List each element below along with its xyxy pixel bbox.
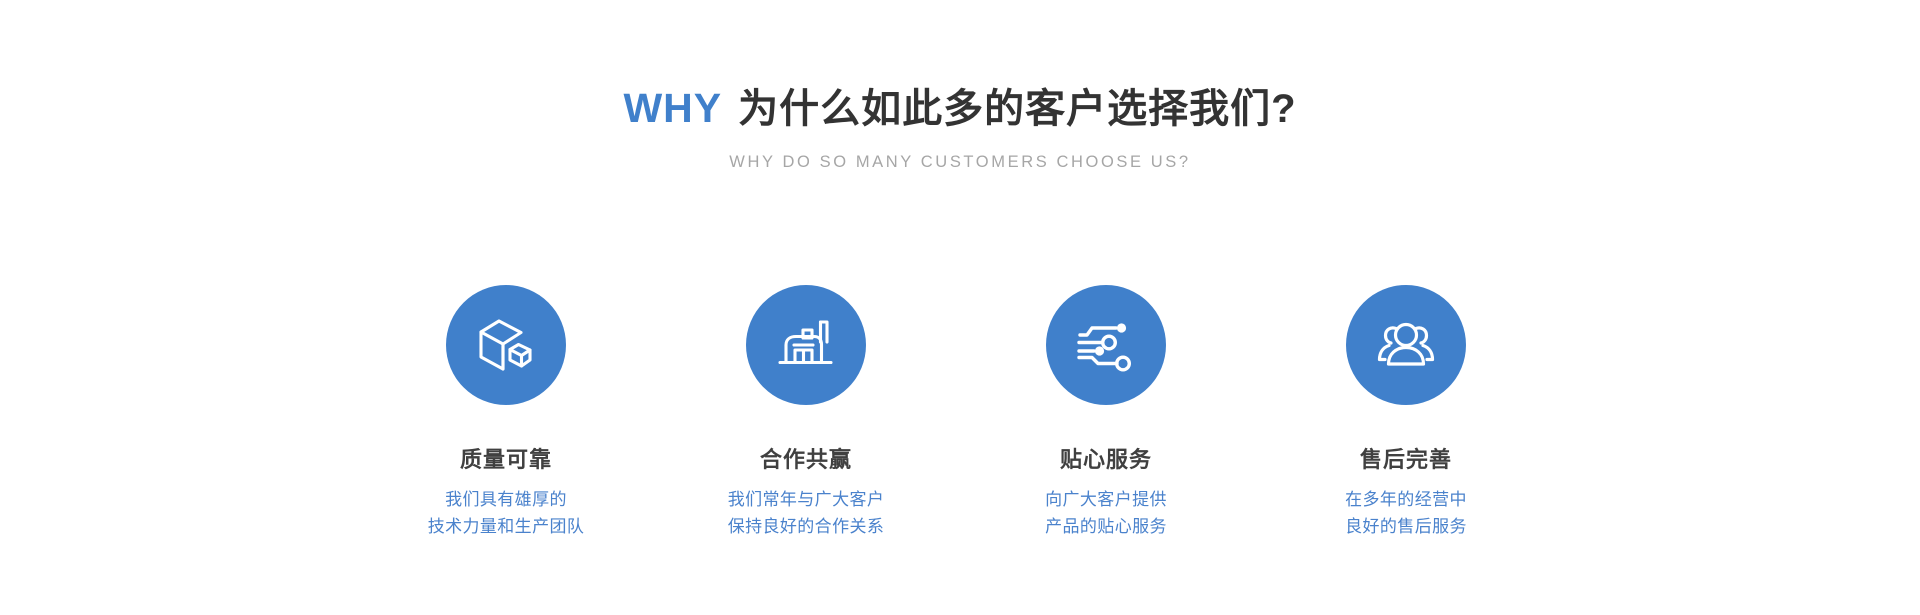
feature-item-quality[interactable]: 质量可靠 我们具有雄厚的 技术力量和生产团队 [406,285,606,540]
icon-circle-service [1046,285,1166,405]
title-prefix-why: WHY [623,85,722,131]
section-subtitle: WHY DO SO MANY CUSTOMERS CHOOSE US? [0,153,1920,172]
feature-title: 售后完善 [1360,448,1452,472]
feature-description: 我们常年与广大客户 保持良好的合作关系 [728,487,885,540]
factory-icon [773,312,839,378]
box-package-icon [473,312,539,378]
feature-desc-line-2: 保持良好的合作关系 [728,514,885,540]
feature-list: 质量可靠 我们具有雄厚的 技术力量和生产团队 [406,285,1506,540]
feature-item-cooperation[interactable]: 合作共赢 我们常年与广大客户 保持良好的合作关系 [706,285,906,540]
title-chinese: 为什么如此多的客户选择我们? [738,87,1296,131]
feature-desc-line-2: 良好的售后服务 [1345,514,1467,540]
feature-desc-line-1: 在多年的经营中 [1345,487,1467,513]
feature-desc-line-1: 我们具有雄厚的 [428,487,585,513]
page-title: WHY为什么如此多的客户选择我们? [0,84,1920,133]
feature-description: 我们具有雄厚的 技术力量和生产团队 [428,487,585,540]
feature-item-service[interactable]: 贴心服务 向广大客户提供 产品的贴心服务 [1006,285,1206,540]
feature-desc-line-1: 我们常年与广大客户 [728,487,885,513]
feature-title: 贴心服务 [1060,448,1152,472]
feature-desc-line-2: 技术力量和生产团队 [428,514,585,540]
why-choose-us-section: WHY为什么如此多的客户选择我们? WHY DO SO MANY CUSTOME… [0,0,1920,615]
feature-title: 质量可靠 [460,448,552,472]
icon-circle-quality [446,285,566,405]
circuit-network-icon [1073,312,1139,378]
feature-title: 合作共赢 [760,448,852,472]
feature-item-aftersales[interactable]: 售后完善 在多年的经营中 良好的售后服务 [1306,285,1506,540]
icon-circle-aftersales [1346,285,1466,405]
icon-circle-cooperation [746,285,866,405]
feature-description: 向广大客户提供 产品的贴心服务 [1045,487,1167,540]
feature-description: 在多年的经营中 良好的售后服务 [1345,487,1467,540]
section-heading: WHY为什么如此多的客户选择我们? WHY DO SO MANY CUSTOME… [0,84,1920,172]
feature-desc-line-2: 产品的贴心服务 [1045,514,1167,540]
people-group-icon [1372,311,1440,379]
feature-desc-line-1: 向广大客户提供 [1045,487,1167,513]
